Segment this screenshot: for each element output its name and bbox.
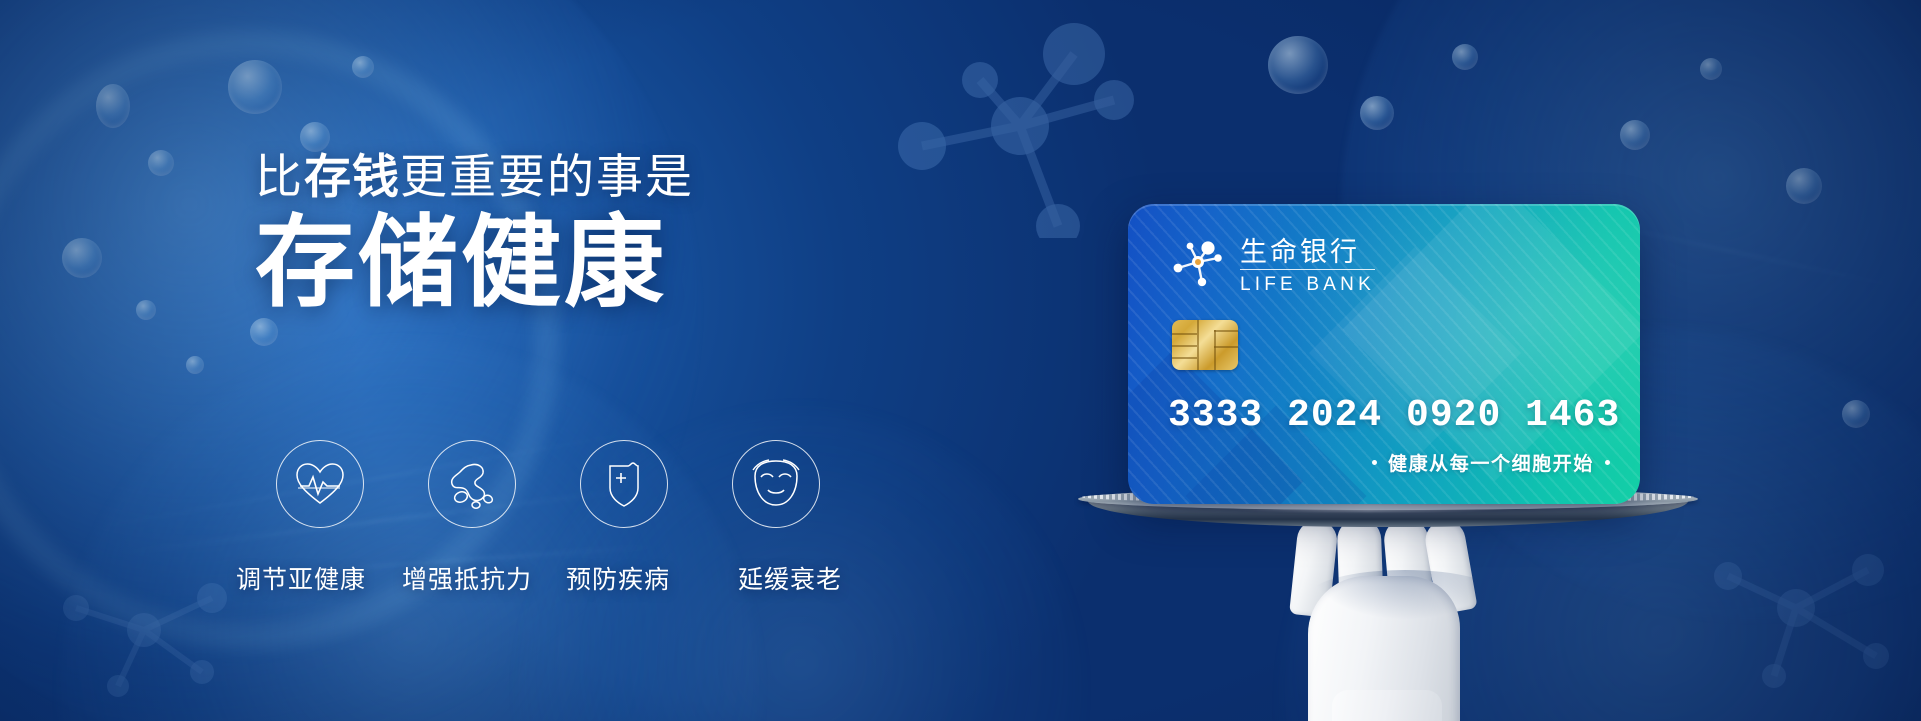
card-brand-en: LIFE BANK bbox=[1240, 274, 1375, 296]
card-brand: 生命银行 LIFE BANK bbox=[1240, 236, 1375, 296]
page-title: 存储健康 bbox=[255, 211, 875, 315]
white-gloved-hand bbox=[1280, 520, 1520, 721]
feature-item bbox=[574, 440, 674, 528]
molecule-logo-icon bbox=[1168, 236, 1226, 288]
card-tagline-text: 健康从每一个细胞开始 bbox=[1388, 449, 1594, 476]
card-tagline: 健康从每一个细胞开始 bbox=[1372, 449, 1610, 476]
bullet-dot bbox=[1605, 460, 1610, 465]
headline-block: 比存钱更重要的事是 存储健康 bbox=[255, 152, 875, 315]
kicker-after: 更重要的事是 bbox=[400, 150, 694, 203]
face-icon bbox=[732, 440, 820, 528]
glove-wrist bbox=[1332, 690, 1442, 721]
glove-shadow bbox=[1310, 570, 1500, 620]
feature-label: 调节亚健康 bbox=[236, 560, 388, 596]
kicker-emphasis: 存钱 bbox=[304, 150, 400, 203]
card-face: 生命银行 LIFE BANK 3333 2024 0920 1463 健康从每一… bbox=[1128, 204, 1640, 504]
tray-highlight bbox=[1228, 504, 1508, 512]
feature-icon-row bbox=[270, 440, 826, 528]
feature-label: 预防疾病 bbox=[566, 560, 694, 596]
emv-chip-icon bbox=[1172, 320, 1238, 370]
bank-card: 生命银行 LIFE BANK 3333 2024 0920 1463 健康从每一… bbox=[1128, 204, 1640, 504]
feature-item bbox=[422, 440, 522, 528]
feature-item bbox=[270, 440, 370, 528]
card-number: 3333 2024 0920 1463 bbox=[1168, 394, 1614, 437]
promo-banner: 比存钱更重要的事是 存储健康 bbox=[0, 0, 1921, 721]
bullet-dot bbox=[1372, 460, 1377, 465]
shield-plus-icon bbox=[580, 440, 668, 528]
heartbeat-icon bbox=[276, 440, 364, 528]
cell-icon bbox=[428, 440, 516, 528]
feature-label: 增强抵抗力 bbox=[402, 560, 552, 596]
card-logo: 生命银行 LIFE BANK bbox=[1168, 236, 1375, 296]
card-brand-cn: 生命银行 bbox=[1240, 238, 1375, 270]
feature-label: 延缓衰老 bbox=[738, 560, 842, 596]
kicker-line: 比存钱更重要的事是 bbox=[255, 152, 875, 203]
kicker-before: 比 bbox=[255, 150, 304, 203]
feature-item bbox=[726, 440, 826, 528]
feature-label-row: 调节亚健康 增强抵抗力 预防疾病 延缓衰老 bbox=[236, 560, 842, 596]
